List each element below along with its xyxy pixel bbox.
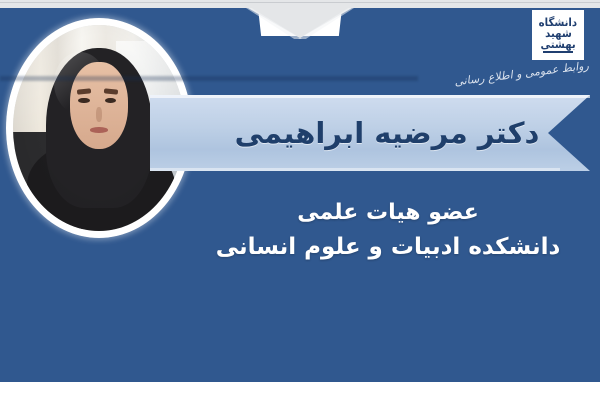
public-relations-script: روابط عمومی و اطلاع رسانی xyxy=(503,60,590,82)
person-name: دکتر مرضیه ابراهیمی xyxy=(150,95,590,171)
faculty-announcement-card: دکتر مرضیه ابراهیمی عضو هیات علمی دانشکد… xyxy=(0,0,600,400)
university-logo: دانشگاه شهید بهشتی روابط عمومی و اطلاع ر… xyxy=(502,8,590,92)
bottom-white-margin xyxy=(0,382,600,400)
top-chevron-notch xyxy=(248,8,352,38)
name-ribbon-shadow xyxy=(0,76,418,81)
university-logo-line-3: بهشتی xyxy=(540,39,575,50)
top-edge-hairline xyxy=(0,2,600,3)
university-logo-rule xyxy=(543,51,573,53)
role-block: عضو هیات علمی دانشکده ادبیات و علوم انسا… xyxy=(190,196,586,266)
role-line-primary: عضو هیات علمی xyxy=(190,196,586,230)
name-ribbon: دکتر مرضیه ابراهیمی xyxy=(150,95,590,171)
university-logo-mark: دانشگاه شهید بهشتی xyxy=(532,10,584,60)
role-line-secondary: دانشکده ادبیات و علوم انسانی xyxy=(190,230,586,266)
